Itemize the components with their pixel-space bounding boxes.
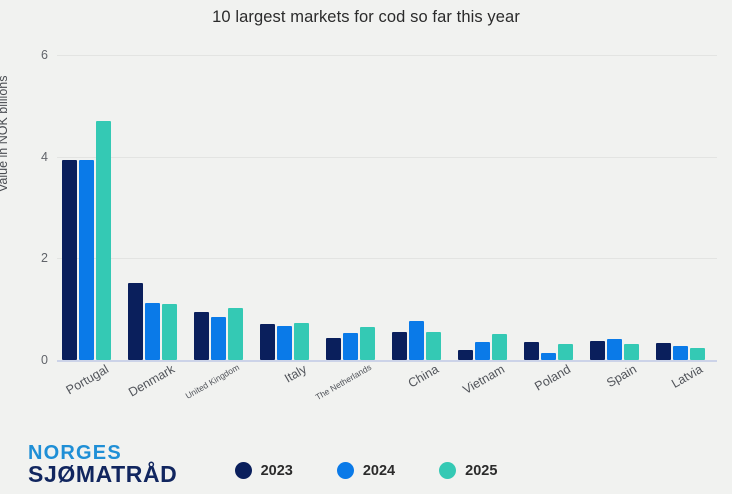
y-axis-label: Value in NOK billions xyxy=(0,76,10,193)
legend-label-2023: 2023 xyxy=(261,463,293,479)
legend-item-2025[interactable]: 2025 xyxy=(439,462,497,479)
x-tick-label-the-netherlands: The Netherlands xyxy=(314,362,373,402)
bar-poland-2025[interactable] xyxy=(558,344,573,360)
bar-vietnam-2024[interactable] xyxy=(475,342,490,360)
bar-group xyxy=(651,55,717,360)
bar-italy-2024[interactable] xyxy=(277,326,292,360)
y-tick-label-2: 2 xyxy=(4,251,48,265)
x-tick-label-italy: Italy xyxy=(282,362,309,386)
legend-swatch-icon-2024 xyxy=(337,462,354,479)
bar-portugal-2023[interactable] xyxy=(62,160,77,360)
x-tick-label-china: China xyxy=(406,362,441,390)
bar-denmark-2024[interactable] xyxy=(145,303,160,360)
bar-latvia-2025[interactable] xyxy=(690,348,705,360)
bar-group xyxy=(453,55,519,360)
bar-china-2023[interactable] xyxy=(392,332,407,360)
x-tick-label-united-kingdom: United Kingdom xyxy=(184,362,241,401)
legend-item-2024[interactable]: 2024 xyxy=(337,462,395,479)
bar-group xyxy=(189,55,255,360)
legend-swatch-icon-2025 xyxy=(439,462,456,479)
bar-group xyxy=(519,55,585,360)
bar-united-kingdom-2024[interactable] xyxy=(211,317,226,360)
bar-denmark-2025[interactable] xyxy=(162,304,177,360)
bar-poland-2023[interactable] xyxy=(524,342,539,360)
bar-the-netherlands-2025[interactable] xyxy=(360,327,375,360)
bar-poland-2024[interactable] xyxy=(541,353,556,360)
bar-vietnam-2023[interactable] xyxy=(458,350,473,360)
bar-spain-2025[interactable] xyxy=(624,344,639,360)
bar-vietnam-2025[interactable] xyxy=(492,334,507,360)
chart-title: 10 largest markets for cod so far this y… xyxy=(0,8,732,27)
bar-united-kingdom-2023[interactable] xyxy=(194,312,209,360)
bar-china-2024[interactable] xyxy=(409,321,424,360)
legend-swatch-icon-2023 xyxy=(235,462,252,479)
y-tick-label-6: 6 xyxy=(4,48,48,62)
bar-latvia-2023[interactable] xyxy=(656,343,671,360)
chart-container: 10 largest markets for cod so far this y… xyxy=(0,0,732,494)
bar-denmark-2023[interactable] xyxy=(128,283,143,360)
x-tick-label-poland: Poland xyxy=(532,362,573,394)
bar-united-kingdom-2025[interactable] xyxy=(228,308,243,360)
bar-italy-2025[interactable] xyxy=(294,323,309,360)
x-axis-tick-labels: PortugalDenmarkUnited KingdomItalyThe Ne… xyxy=(57,362,717,432)
bar-spain-2024[interactable] xyxy=(607,339,622,360)
bar-group xyxy=(255,55,321,360)
bar-group xyxy=(57,55,123,360)
legend-item-2023[interactable]: 2023 xyxy=(235,462,293,479)
y-tick-label-4: 4 xyxy=(4,150,48,164)
chart-legend: 202320242025 xyxy=(0,462,732,479)
x-tick-label-portugal: Portugal xyxy=(64,362,111,397)
y-tick-label-0: 0 xyxy=(4,353,48,367)
bar-china-2025[interactable] xyxy=(426,332,441,360)
x-tick-label-denmark: Denmark xyxy=(126,362,177,399)
x-tick-label-vietnam: Vietnam xyxy=(460,362,507,397)
bar-portugal-2025[interactable] xyxy=(96,121,111,360)
bar-spain-2023[interactable] xyxy=(590,341,605,360)
bar-group xyxy=(321,55,387,360)
bar-group xyxy=(585,55,651,360)
x-tick-label-latvia: Latvia xyxy=(669,362,705,391)
bar-italy-2023[interactable] xyxy=(260,324,275,360)
bar-groups xyxy=(57,55,717,360)
bar-latvia-2024[interactable] xyxy=(673,346,688,360)
legend-label-2025: 2025 xyxy=(465,463,497,479)
bar-group xyxy=(387,55,453,360)
legend-label-2024: 2024 xyxy=(363,463,395,479)
bar-group xyxy=(123,55,189,360)
x-tick-label-spain: Spain xyxy=(604,362,639,390)
bar-the-netherlands-2024[interactable] xyxy=(343,333,358,360)
bar-portugal-2024[interactable] xyxy=(79,160,94,360)
bar-the-netherlands-2023[interactable] xyxy=(326,338,341,360)
